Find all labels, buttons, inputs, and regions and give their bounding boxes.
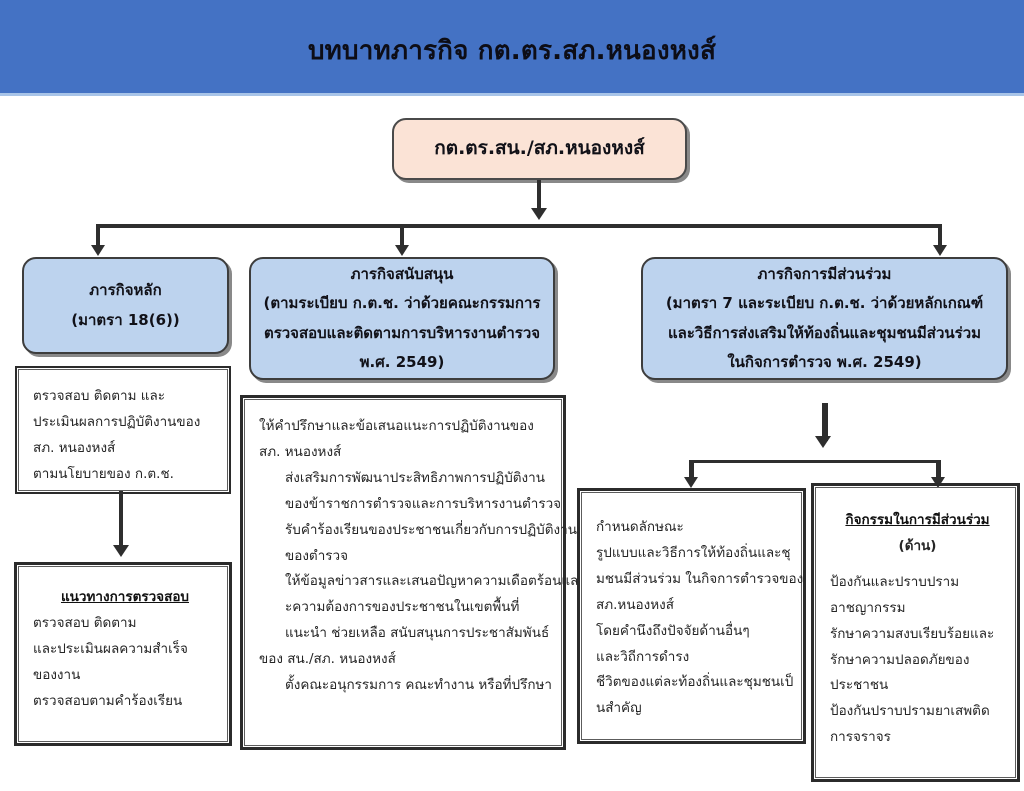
category-support-line-4: พ.ศ. 2549) <box>251 348 553 377</box>
arrow-audit-down-icon <box>113 545 129 557</box>
main-detail-box[interactable]: ตรวจสอบ ติดตาม และ ประเมินผลการปฏิบัติงา… <box>18 369 228 491</box>
participation-detail-box[interactable]: กำหนดลักษณะ รูปแบบและวิธีการให้ท้องถิ่นแ… <box>581 492 802 740</box>
category-support-box[interactable]: ภารกิจสนับสนุน (ตามระเบียบ ก.ต.ช. ว่าด้ว… <box>249 257 555 380</box>
main-detail-line-2: ประเมินผลการปฏิบัติงานของ <box>33 410 217 436</box>
support-detail-line-10: ของ สน./สภ. หนองหงส์ <box>259 647 551 673</box>
arrow-participation-down-icon <box>933 245 947 256</box>
support-detail-line-6: ของตำรวจ <box>259 544 551 570</box>
category-support-line-1: ภารกิจสนับสนุน <box>251 260 553 289</box>
category-main-line-1: ภารกิจหลัก <box>24 276 227 305</box>
root-node-label: กต.ตร.สน./สภ.หนองหงส์ <box>394 130 685 167</box>
category-participation-line-3: และวิธีการส่งเสริมให้ท้องถิ่นและชุมชนมีส… <box>643 319 1006 348</box>
participation-detail-line-1: กำหนดลักษณะ <box>596 515 791 541</box>
participation-activities-box[interactable]: กิจกรรมในการมีส่วนร่วม (ด้าน) ป้องกันและ… <box>815 487 1016 778</box>
root-node-box[interactable]: กต.ตร.สน./สภ.หนองหงส์ <box>392 118 687 180</box>
audit-guideline-box[interactable]: แนวทางการตรวจสอบ ตรวจสอบ ติดตาม และประเม… <box>18 566 228 742</box>
category-support-line-3: ตรวจสอบและติดตามการบริหารงานตำรวจ <box>251 319 553 348</box>
connector-main-to-audit <box>119 491 123 549</box>
support-detail-line-5: รับคำร้องเรียนของประชาชนเกี่ยวกับการปฏิบ… <box>259 518 551 544</box>
main-detail-line-1: ตรวจสอบ ติดตาม และ <box>33 384 217 410</box>
participation-detail-line-5: โดยคำนึงถึงปัจจัยด้านอื่นๆ <box>596 619 791 645</box>
participation-detail-line-4: สภ.หนองหงส์ <box>596 593 791 619</box>
category-support-line-2: (ตามระเบียบ ก.ต.ช. ว่าด้วยคณะกรรมการ <box>251 289 553 318</box>
participation-detail-line-8: นสำคัญ <box>596 696 791 722</box>
support-detail-line-4: ของข้าราชการตำรวจและการบริหารงานตำรวจ <box>259 492 551 518</box>
category-main-box[interactable]: ภารกิจหลัก (มาตรา 18(6)) <box>22 257 229 354</box>
participation-detail-line-7: ชีวิตของแต่ละท้องถิ่นและชุมชนเป็ <box>596 670 791 696</box>
audit-guideline-line-1: ตรวจสอบ ติดตาม <box>33 611 217 637</box>
participation-activities-subheading: (ด้าน) <box>830 534 1005 560</box>
page-title: บทบาทภารกิจ กต.ตร.สภ.หนองหงส์ <box>0 30 1024 71</box>
participation-activities-line-5: ประชาชน <box>830 673 1005 699</box>
category-participation-box[interactable]: ภารกิจการมีส่วนร่วม (มาตรา 7 และระเบียบ … <box>641 257 1008 380</box>
connector-participation-split-bar <box>689 460 941 463</box>
support-detail-line-3: ส่งเสริมการพัฒนาประสิทธิภาพการปฏิบัติงาน <box>259 466 551 492</box>
participation-detail-line-2: รูปแบบและวิธีการให้ท้องถิ่นและชุ <box>596 541 791 567</box>
category-participation-line-4: ในกิจการตำรวจ พ.ศ. 2549) <box>643 348 1006 377</box>
participation-activities-line-4: รักษาความปลอดภัยของ <box>830 648 1005 674</box>
arrow-support-down-icon <box>395 245 409 256</box>
support-detail-line-1: ให้คำปรึกษาและข้อเสนอแนะการปฏิบัติงานของ <box>259 414 551 440</box>
audit-guideline-line-3: ของงาน <box>33 663 217 689</box>
participation-activities-line-6: ป้องกันปราบปรามยาเสพติด <box>830 699 1005 725</box>
participation-activities-line-3: รักษาความสงบเรียบร้อยและ <box>830 622 1005 648</box>
audit-guideline-line-2: และประเมินผลความสำเร็จ <box>33 637 217 663</box>
participation-activities-line-1: ป้องกันและปราบปราม <box>830 570 1005 596</box>
main-detail-line-3: สภ. หนองหงส์ <box>33 436 217 462</box>
arrow-participation-detail-down-icon <box>684 477 698 488</box>
arrow-main-down-icon <box>91 245 105 256</box>
support-detail-box[interactable]: ให้คำปรึกษาและข้อเสนอแนะการปฏิบัติงานของ… <box>244 399 562 746</box>
arrow-participation-stem-down-icon <box>815 436 831 448</box>
participation-detail-line-3: มชนมีส่วนร่วม ในกิจการตำรวจของ <box>596 567 791 593</box>
support-detail-line-2: สภ. หนองหงส์ <box>259 440 551 466</box>
participation-activities-line-7: การจราจร <box>830 725 1005 751</box>
connector-distribution-bar <box>96 224 942 228</box>
support-detail-line-9: แนะนำ ช่วยเหลือ สนับสนุนการประชาสัมพันธ์ <box>259 621 551 647</box>
support-detail-line-8: ะความต้องการของประชาชนในเขตพื้นที่ <box>259 595 551 621</box>
category-main-line-2: (มาตรา 18(6)) <box>24 306 227 335</box>
support-detail-line-11: ตั้งคณะอนุกรรมการ คณะทำงาน หรือที่ปรึกษา <box>259 673 551 699</box>
support-detail-line-7: ให้ข้อมูลข่าวสารและเสนอปัญหาความเดือตร้อ… <box>259 569 551 595</box>
main-detail-line-4: ตามนโยบายของ ก.ต.ช. <box>33 462 217 488</box>
arrow-root-down-icon <box>531 208 547 220</box>
header-divider <box>0 93 1024 96</box>
participation-activities-heading: กิจกรรมในการมีส่วนร่วม <box>830 508 1005 534</box>
audit-guideline-line-4: ตรวจสอบตามคำร้องเรียน <box>33 689 217 715</box>
category-participation-line-1: ภารกิจการมีส่วนร่วม <box>643 260 1006 289</box>
category-participation-line-2: (มาตรา 7 และระเบียบ ก.ต.ช. ว่าด้วยหลักเก… <box>643 289 1006 318</box>
diagram-canvas: บทบาทภารกิจ กต.ตร.สภ.หนองหงส์ กต.ตร.สน./… <box>0 0 1024 791</box>
participation-activities-spacer <box>830 560 1005 570</box>
participation-detail-line-6: และวิถีการดำรง <box>596 645 791 671</box>
participation-activities-line-2: อาชญากรรม <box>830 596 1005 622</box>
audit-guideline-heading: แนวทางการตรวจสอบ <box>33 585 217 611</box>
